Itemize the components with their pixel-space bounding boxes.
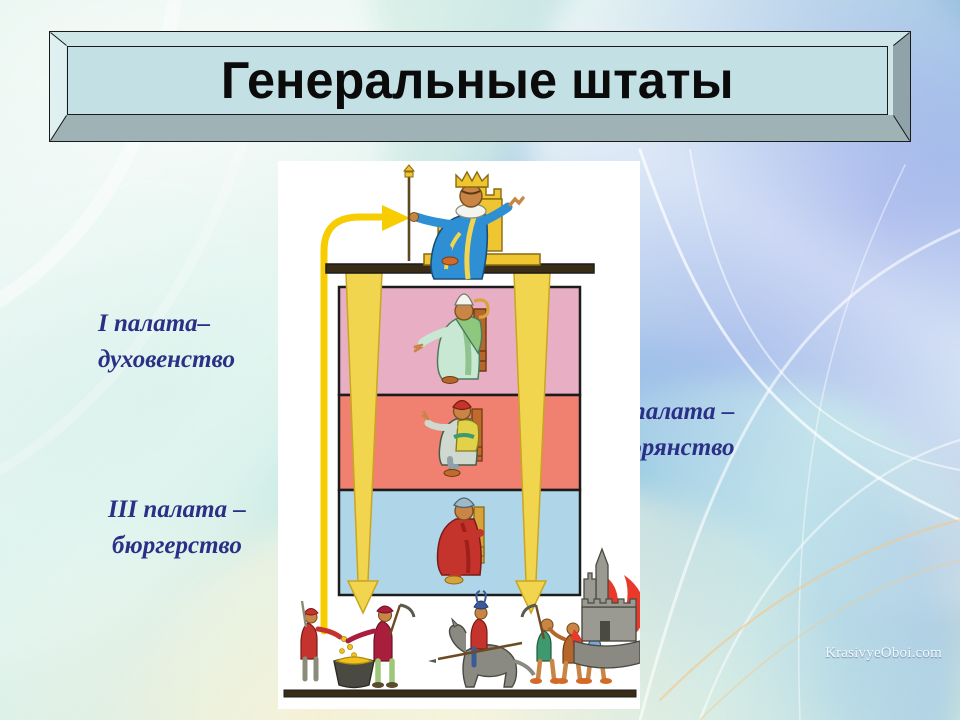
tax-arrowhead-right <box>516 581 546 613</box>
crown-icon <box>456 172 488 187</box>
castle-rock <box>574 641 640 668</box>
tax-collection-scene <box>301 601 414 688</box>
tax-arrowhead-left <box>348 581 378 613</box>
label-first-estate-line2: духовенство <box>98 342 235 378</box>
estates-diagram-image <box>278 161 640 709</box>
label-third-estate: III палата – бюргерство <box>108 492 246 563</box>
slide-canvas: Генеральные штаты I палата– духовенство … <box>0 0 960 720</box>
title-plaque: Генеральные штаты <box>49 31 911 142</box>
watermark: KrasivyeOboi.com <box>825 645 942 662</box>
page-title: Генеральные штаты <box>221 55 734 107</box>
horse <box>463 645 517 687</box>
label-third-estate-line1: III палата – <box>108 496 246 523</box>
burning-castle-scene <box>572 549 640 668</box>
mounted-knight-scene <box>428 591 534 687</box>
title-inner-box: Генеральные штаты <box>67 46 888 115</box>
label-third-estate-line2: бюргерство <box>108 528 246 564</box>
castle-gate <box>600 621 610 641</box>
label-first-estate-line1: I палата– <box>98 310 210 337</box>
label-first-estate: I палата– духовенство <box>98 306 235 377</box>
castle-tower <box>596 549 608 607</box>
ground-line <box>284 690 636 697</box>
scythe-blade <box>400 605 414 617</box>
money-flow-arrowhead <box>382 205 410 231</box>
